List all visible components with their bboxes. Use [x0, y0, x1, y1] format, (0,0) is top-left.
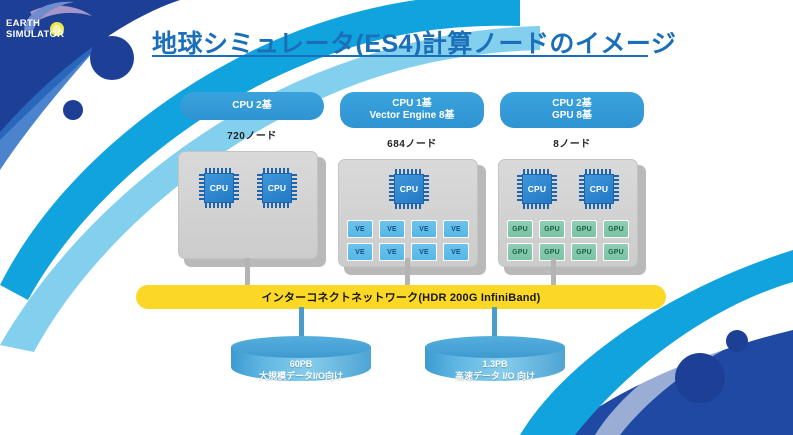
node-type-badge: CPU 1基 Vector Engine 8基 — [340, 92, 484, 128]
node-column-cpu-only: CPU 2基 720ノード CPU CPU — [172, 92, 332, 265]
badge-line-1: CPU 2基 — [552, 98, 591, 110]
accelerator-tile: VE — [379, 243, 405, 261]
cylinder-top — [425, 336, 565, 358]
node-column-gpu: CPU 2基 GPU 8基 8ノード CPU CPU — [492, 92, 652, 273]
cylinder-top — [231, 336, 371, 358]
accelerator-tile: VE — [411, 220, 437, 238]
cpu-chip: CPU — [389, 169, 429, 209]
accelerator-tile: VE — [347, 220, 373, 238]
accelerator-tile: GPU — [539, 220, 565, 238]
cpu-chip-label: CPU — [522, 174, 552, 204]
chassis-body: CPU VE VE VE VE VE VE VE VE — [338, 159, 478, 267]
storage-cylinder-large-scale: 60PB 大規模データI/O向け — [231, 336, 371, 392]
storage-purpose: 高速データ I/O 向け — [425, 370, 565, 382]
node-type-badge: CPU 2基 — [180, 92, 324, 120]
node-chassis: CPU CPU — [178, 151, 326, 265]
badge-line-1: CPU 1基 — [392, 98, 431, 110]
node-connector-line — [405, 258, 410, 288]
title-underline — [152, 55, 648, 57]
accelerator-tile: GPU — [603, 243, 629, 261]
node-chassis: CPU CPU GPU GPU GPU GPU GPU GPU GPU GPU — [498, 159, 646, 273]
earth-simulator-logo: EARTH SIMULATOR — [0, 0, 112, 52]
cpu-chip: CPU — [257, 168, 297, 208]
badge-line-2: GPU 8基 — [552, 110, 592, 122]
chassis-body: CPU CPU GPU GPU GPU GPU GPU GPU GPU GPU — [498, 159, 638, 267]
accelerator-tile: GPU — [571, 220, 597, 238]
accelerator-tile: GPU — [507, 243, 533, 261]
cpu-chip-label: CPU — [204, 173, 234, 203]
accelerator-tile: VE — [443, 220, 469, 238]
cpu-chip-label: CPU — [394, 174, 424, 204]
cpu-chip-label: CPU — [584, 174, 614, 204]
node-connector-line — [245, 258, 250, 288]
slide-canvas: EARTH SIMULATOR 地球シミュレータ(ES4)計算ノードのイメージ … — [0, 0, 793, 435]
cpu-chip: CPU — [199, 168, 239, 208]
storage-capacity: 60PB — [231, 358, 371, 370]
accelerator-tile: GPU — [507, 220, 533, 238]
logo-text: EARTH SIMULATOR — [6, 19, 64, 40]
node-chassis: CPU VE VE VE VE VE VE VE VE — [338, 159, 486, 273]
node-count-label: 8ノード — [492, 135, 652, 150]
storage-purpose: 大規模データI/O向け — [231, 370, 371, 382]
node-column-vector-engine: CPU 1基 Vector Engine 8基 684ノード CPU VE VE… — [332, 92, 492, 273]
accelerator-tile: VE — [379, 220, 405, 238]
storage-label: 60PB 大規模データI/O向け — [231, 358, 371, 382]
storage-cylinder-high-speed: 1.3PB 高速データ I/O 向け — [425, 336, 565, 392]
chassis-body: CPU CPU — [178, 151, 318, 259]
interconnect-network-bar: インターコネクトネットワーク(HDR 200G InfiniBand) — [136, 285, 666, 309]
accelerator-tile: VE — [443, 243, 469, 261]
badge-line-2: Vector Engine 8基 — [369, 110, 454, 122]
cpu-chip-label: CPU — [262, 173, 292, 203]
storage-capacity: 1.3PB — [425, 358, 565, 370]
accelerator-tile: VE — [411, 243, 437, 261]
cpu-chip: CPU — [517, 169, 557, 209]
accelerator-tile: GPU — [571, 243, 597, 261]
node-count-label: 720ノード — [172, 127, 332, 142]
node-type-badge: CPU 2基 GPU 8基 — [500, 92, 644, 128]
badge-line-1: CPU 2基 — [232, 100, 271, 112]
accelerator-tile: VE — [347, 243, 373, 261]
storage-label: 1.3PB 高速データ I/O 向け — [425, 358, 565, 382]
cpu-chip: CPU — [579, 169, 619, 209]
node-connector-line — [551, 258, 556, 288]
node-count-label: 684ノード — [332, 135, 492, 150]
accelerator-tile: GPU — [603, 220, 629, 238]
